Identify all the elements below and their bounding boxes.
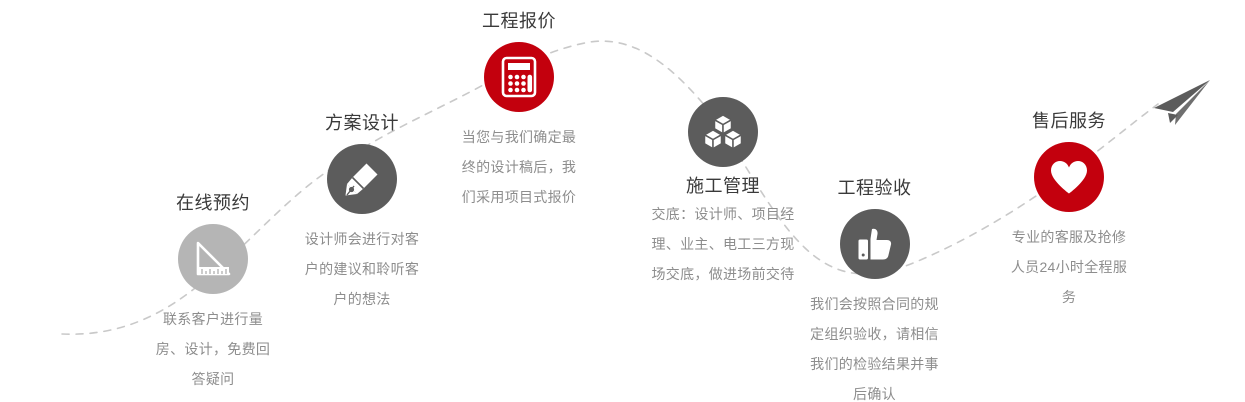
- desc-line: 定组织验收，请相信: [762, 319, 987, 349]
- step-title: 工程报价: [419, 8, 619, 34]
- thumbs-up-icon[interactable]: [840, 209, 910, 279]
- desc-line: 人员24小时全程服: [969, 252, 1169, 282]
- spacer: [969, 134, 1169, 142]
- desc-line: 我们会按照合同的规: [762, 289, 987, 319]
- desc-line: 后确认: [762, 379, 987, 402]
- step-description: 设计师会进行对客 户的建议和聆听客 户的想法: [262, 224, 462, 314]
- calculator-icon[interactable]: [484, 42, 554, 112]
- spacer: [419, 34, 619, 42]
- desc-line: 房、设计，免费回: [113, 334, 313, 364]
- icon-wrapper: [573, 97, 873, 167]
- step-project-acceptance[interactable]: 工程验收 我们会按照合同的规 定组织验收，请相信 我们的检验结果并事 后确认: [762, 175, 987, 402]
- fountain-pen-icon[interactable]: [327, 144, 397, 214]
- spacer: [762, 279, 987, 289]
- icon-wrapper: [762, 209, 987, 279]
- desc-line: 户的建议和聆听客: [262, 254, 462, 284]
- step-after-sales-service[interactable]: 售后服务 专业的客服及抢修 人员24小时全程服 务: [969, 108, 1169, 312]
- icon-wrapper: [969, 142, 1169, 212]
- desc-line: 专业的客服及抢修: [969, 222, 1169, 252]
- spacer: [762, 201, 987, 209]
- desc-line: 务: [969, 282, 1169, 312]
- spacer: [262, 214, 462, 224]
- step-description: 联系客户进行量 房、设计，免费回 答疑问: [113, 304, 313, 394]
- desc-line: 我们的检验结果并事: [762, 349, 987, 379]
- step-description: 我们会按照合同的规 定组织验收，请相信 我们的检验结果并事 后确认: [762, 289, 987, 402]
- desc-line: 户的想法: [262, 284, 462, 314]
- heart-icon[interactable]: [1034, 142, 1104, 212]
- desc-line: 设计师会进行对客: [262, 224, 462, 254]
- step-title: 工程验收: [762, 175, 987, 201]
- desc-line: 答疑问: [113, 364, 313, 394]
- step-description: 专业的客服及抢修 人员24小时全程服 务: [969, 222, 1169, 312]
- set-square-ruler-icon[interactable]: [178, 224, 248, 294]
- step-title: 售后服务: [969, 108, 1169, 134]
- spacer: [969, 212, 1169, 222]
- process-flow-diagram: 在线预约: [0, 0, 1245, 402]
- stacked-cubes-icon[interactable]: [688, 97, 758, 167]
